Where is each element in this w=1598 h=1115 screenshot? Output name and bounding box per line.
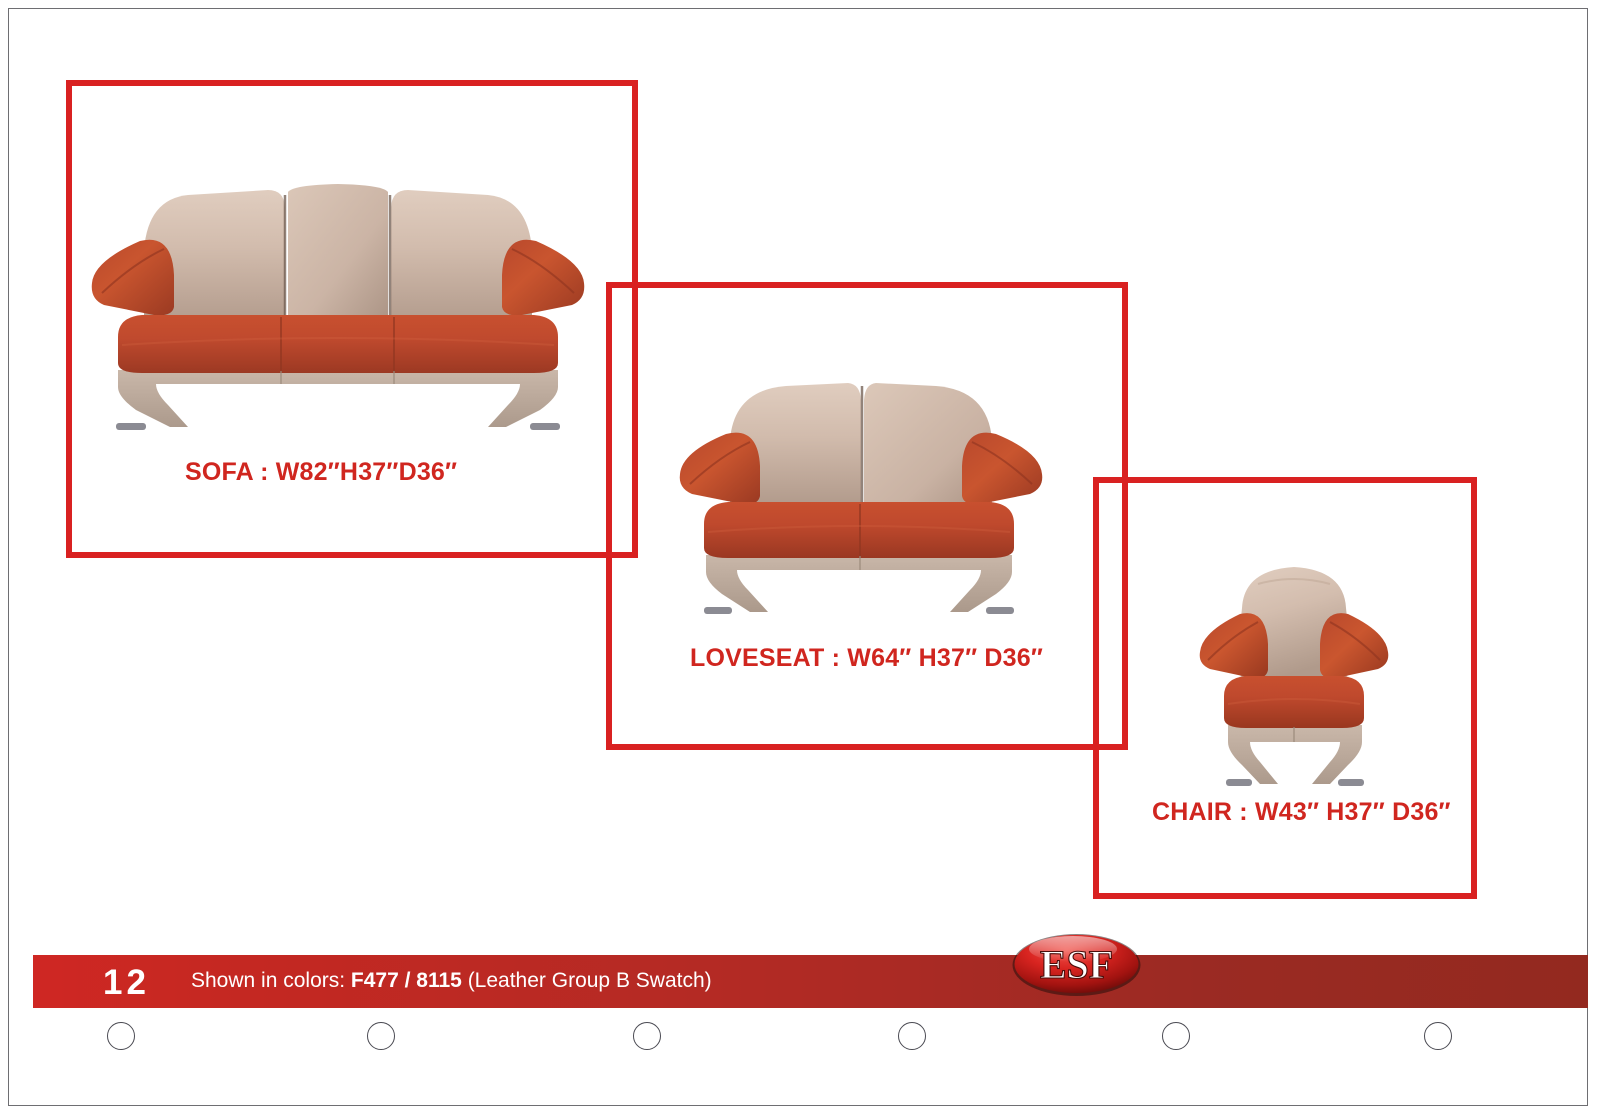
loveseat-dimensions-label: LOVESEAT : W64″ H37″ D36″ <box>690 644 1043 673</box>
sofa-image <box>88 165 588 433</box>
binder-hole <box>1424 1022 1452 1050</box>
footer-caption-suffix: (Leather Group B Swatch) <box>462 969 712 992</box>
loveseat-image <box>668 362 1050 618</box>
chair-dimensions-label: CHAIR : W43″ H37″ D36″ <box>1152 798 1451 827</box>
chair-image <box>1170 548 1418 794</box>
footer-caption-prefix: Shown in colors: <box>191 969 351 992</box>
footer-bar: 12 Shown in colors: F477 / 8115 (Leather… <box>33 955 1588 1008</box>
footer-caption: Shown in colors: F477 / 8115 (Leather Gr… <box>191 969 712 993</box>
page-number: 12 <box>103 963 150 1003</box>
catalog-page: SOFA : W82″H37″D36″ <box>0 0 1598 1115</box>
binder-hole <box>107 1022 135 1050</box>
binder-hole <box>1162 1022 1190 1050</box>
binder-hole <box>898 1022 926 1050</box>
esf-logo: ESF <box>1011 932 1142 998</box>
binder-hole <box>633 1022 661 1050</box>
binder-hole <box>367 1022 395 1050</box>
footer-color-codes: F477 / 8115 <box>351 969 462 992</box>
esf-logo-text: ESF <box>1040 942 1113 987</box>
sofa-dimensions-label: SOFA : W82″H37″D36″ <box>185 458 457 487</box>
